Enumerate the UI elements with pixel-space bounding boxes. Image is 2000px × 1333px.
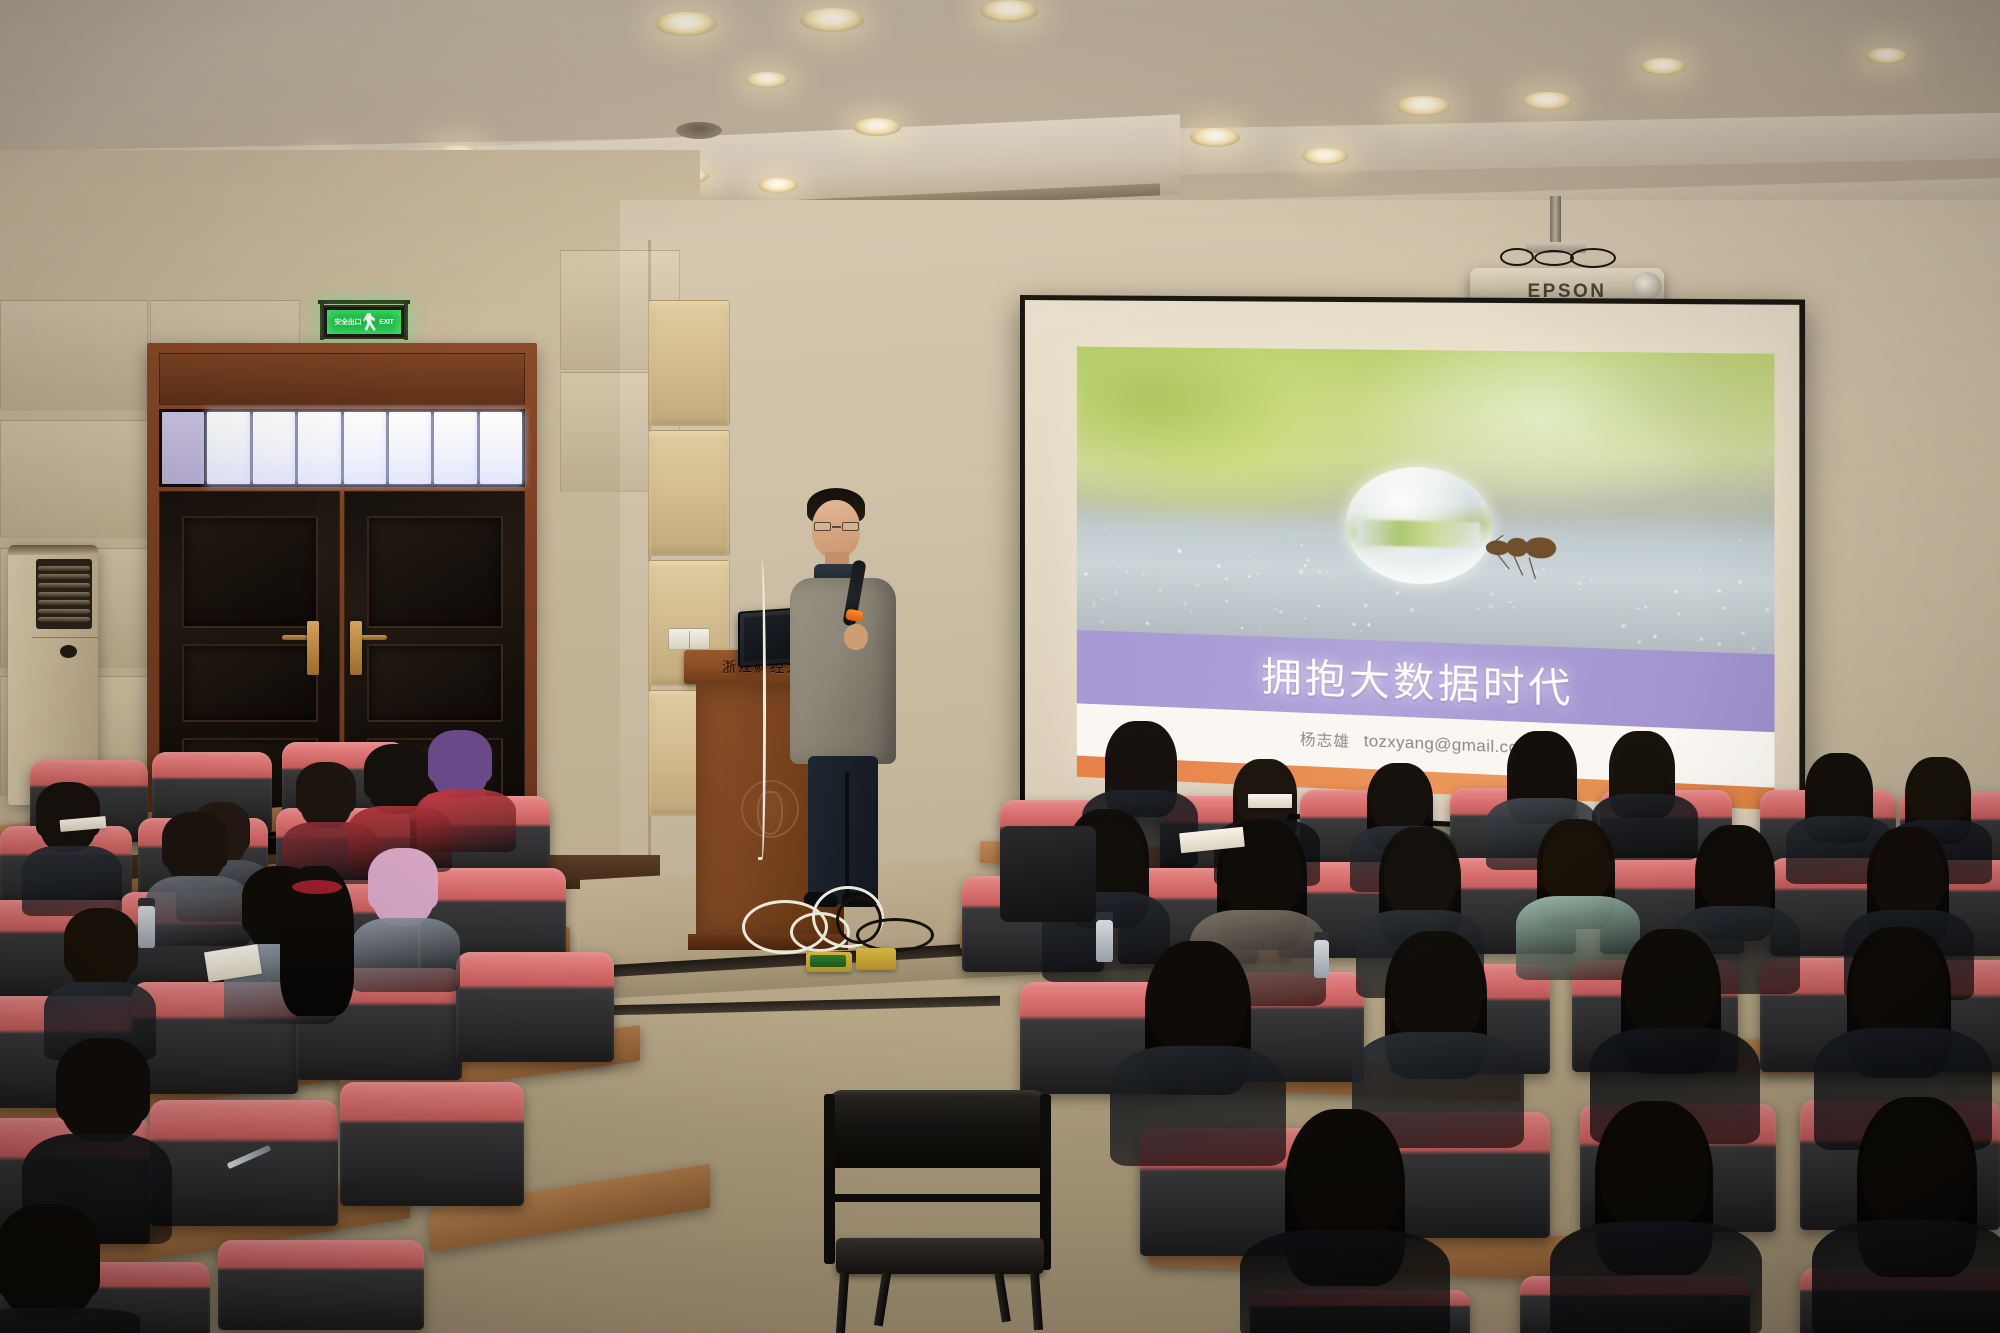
exit-sign-label-cn: 安全出口 xyxy=(334,317,361,327)
ac-power-button[interactable] xyxy=(60,645,77,658)
transom-pane xyxy=(480,412,522,484)
person-body xyxy=(0,1308,140,1333)
ceiling-downlight xyxy=(676,122,722,139)
person-head xyxy=(372,856,434,926)
droplet-refraction xyxy=(1358,519,1481,548)
person-body xyxy=(1110,1046,1286,1166)
person-head xyxy=(300,770,352,828)
folding-chair-seat xyxy=(836,1238,1044,1274)
power-strip[interactable] xyxy=(856,948,896,970)
person-head xyxy=(68,916,134,990)
person-head xyxy=(1862,1106,1972,1230)
presenter-legs xyxy=(808,756,878,904)
transom-pane xyxy=(434,412,476,484)
bottle-cap xyxy=(1314,932,1329,940)
person-body xyxy=(416,790,516,852)
auditorium-seat[interactable] xyxy=(150,1100,338,1226)
wall-panel xyxy=(0,420,148,538)
ceiling-downlight xyxy=(980,0,1038,22)
glasses-icon xyxy=(814,522,859,532)
door-header-panel xyxy=(159,353,525,405)
lecture-hall-photo: 安全出口 EXIT xyxy=(0,0,2000,1333)
folding-chair[interactable] xyxy=(818,1090,1058,1333)
ceiling-downlight xyxy=(1396,96,1450,116)
running-person-icon xyxy=(363,313,377,331)
person-head xyxy=(0,1212,96,1320)
person-head xyxy=(1384,836,1456,918)
person-body xyxy=(1550,1222,1762,1333)
person-head xyxy=(1852,936,1946,1040)
bottle-cap xyxy=(138,898,155,906)
power-strip-label xyxy=(810,955,846,967)
person-head xyxy=(1390,940,1482,1042)
auditorium-seat[interactable] xyxy=(340,1082,524,1206)
water-bottle xyxy=(1314,940,1329,978)
power-strip[interactable] xyxy=(806,952,852,972)
projector-lens xyxy=(1632,272,1662,300)
ceiling-downlight xyxy=(1640,58,1686,75)
ceiling-downlight xyxy=(1522,92,1572,110)
slide-photo xyxy=(1077,347,1775,655)
presenter-email: tozxyang@gmail.com xyxy=(1364,733,1533,759)
person-head xyxy=(1512,740,1572,804)
transom-pane xyxy=(389,412,431,484)
door-transom-windows xyxy=(159,409,525,487)
ant-icon xyxy=(1485,527,1556,576)
person-head xyxy=(1150,950,1246,1056)
presentation-slide: 拥抱大数据时代 杨志雄 tozxyang@gmail.com xyxy=(1077,347,1775,810)
slide-title: 拥抱大数据时代 xyxy=(1261,645,1573,715)
person-head xyxy=(1600,1110,1708,1230)
auditorium-seat[interactable] xyxy=(456,952,614,1062)
presenter-hand xyxy=(844,624,868,650)
exit-sign-label-en: EXIT xyxy=(379,319,393,326)
person-head xyxy=(1700,834,1770,914)
exit-sign-mount xyxy=(318,300,410,304)
emergency-exit-sign: 安全出口 EXIT xyxy=(322,305,406,339)
water-bottle xyxy=(1096,920,1113,962)
ceiling-downlight xyxy=(800,8,864,32)
ceiling-downlight xyxy=(1190,128,1240,147)
folding-chair-back xyxy=(828,1090,1046,1168)
transom-pane xyxy=(207,412,249,484)
person-head xyxy=(1810,762,1868,824)
person-head xyxy=(166,820,224,884)
ac-vent-louvers xyxy=(36,559,92,629)
transom-pane xyxy=(162,412,204,484)
light-switch-plate[interactable] xyxy=(668,628,710,650)
door-handle-bar[interactable] xyxy=(282,635,308,640)
hair-tie xyxy=(292,880,342,894)
person-body xyxy=(1240,1230,1450,1333)
person-head xyxy=(1372,772,1428,832)
person-head xyxy=(1614,740,1670,800)
ceiling-downlight xyxy=(655,12,717,36)
door-handle-right[interactable] xyxy=(350,621,362,675)
bottle-cap xyxy=(1096,912,1113,920)
person-head xyxy=(1626,938,1716,1038)
ceiling-downlight xyxy=(1302,148,1348,165)
person-head xyxy=(1110,730,1172,796)
wall-panel xyxy=(0,300,148,410)
ceiling-downlight xyxy=(1866,48,1908,64)
transom-pane xyxy=(253,412,295,484)
person-body xyxy=(352,918,460,992)
transom-pane xyxy=(298,412,340,484)
projector-mount-pipe xyxy=(1550,196,1561,248)
presenter-name: 杨志雄 xyxy=(1300,728,1350,752)
ac-top-cap xyxy=(8,545,98,555)
person-body xyxy=(1812,1220,2000,1333)
paper-sheet xyxy=(1248,794,1292,808)
door-handle-bar[interactable] xyxy=(361,635,387,640)
ceiling-downlight xyxy=(758,178,798,193)
person-head xyxy=(1290,1118,1400,1240)
person-body xyxy=(1516,896,1640,980)
presenter-person xyxy=(770,482,920,902)
person-body xyxy=(146,876,250,946)
water-bottle xyxy=(138,906,155,948)
transom-pane xyxy=(344,412,386,484)
person-head xyxy=(1872,836,1944,918)
ceiling-downlight xyxy=(853,118,901,136)
door-handle-left[interactable] xyxy=(307,621,319,675)
person-body xyxy=(22,846,122,916)
person-head xyxy=(60,1046,146,1142)
auditorium-seat[interactable] xyxy=(218,1240,424,1330)
person-head xyxy=(1910,766,1966,826)
ceiling-downlight xyxy=(745,72,789,88)
backpack xyxy=(1000,826,1096,922)
person-head xyxy=(1542,828,1610,904)
person-head xyxy=(432,738,488,798)
